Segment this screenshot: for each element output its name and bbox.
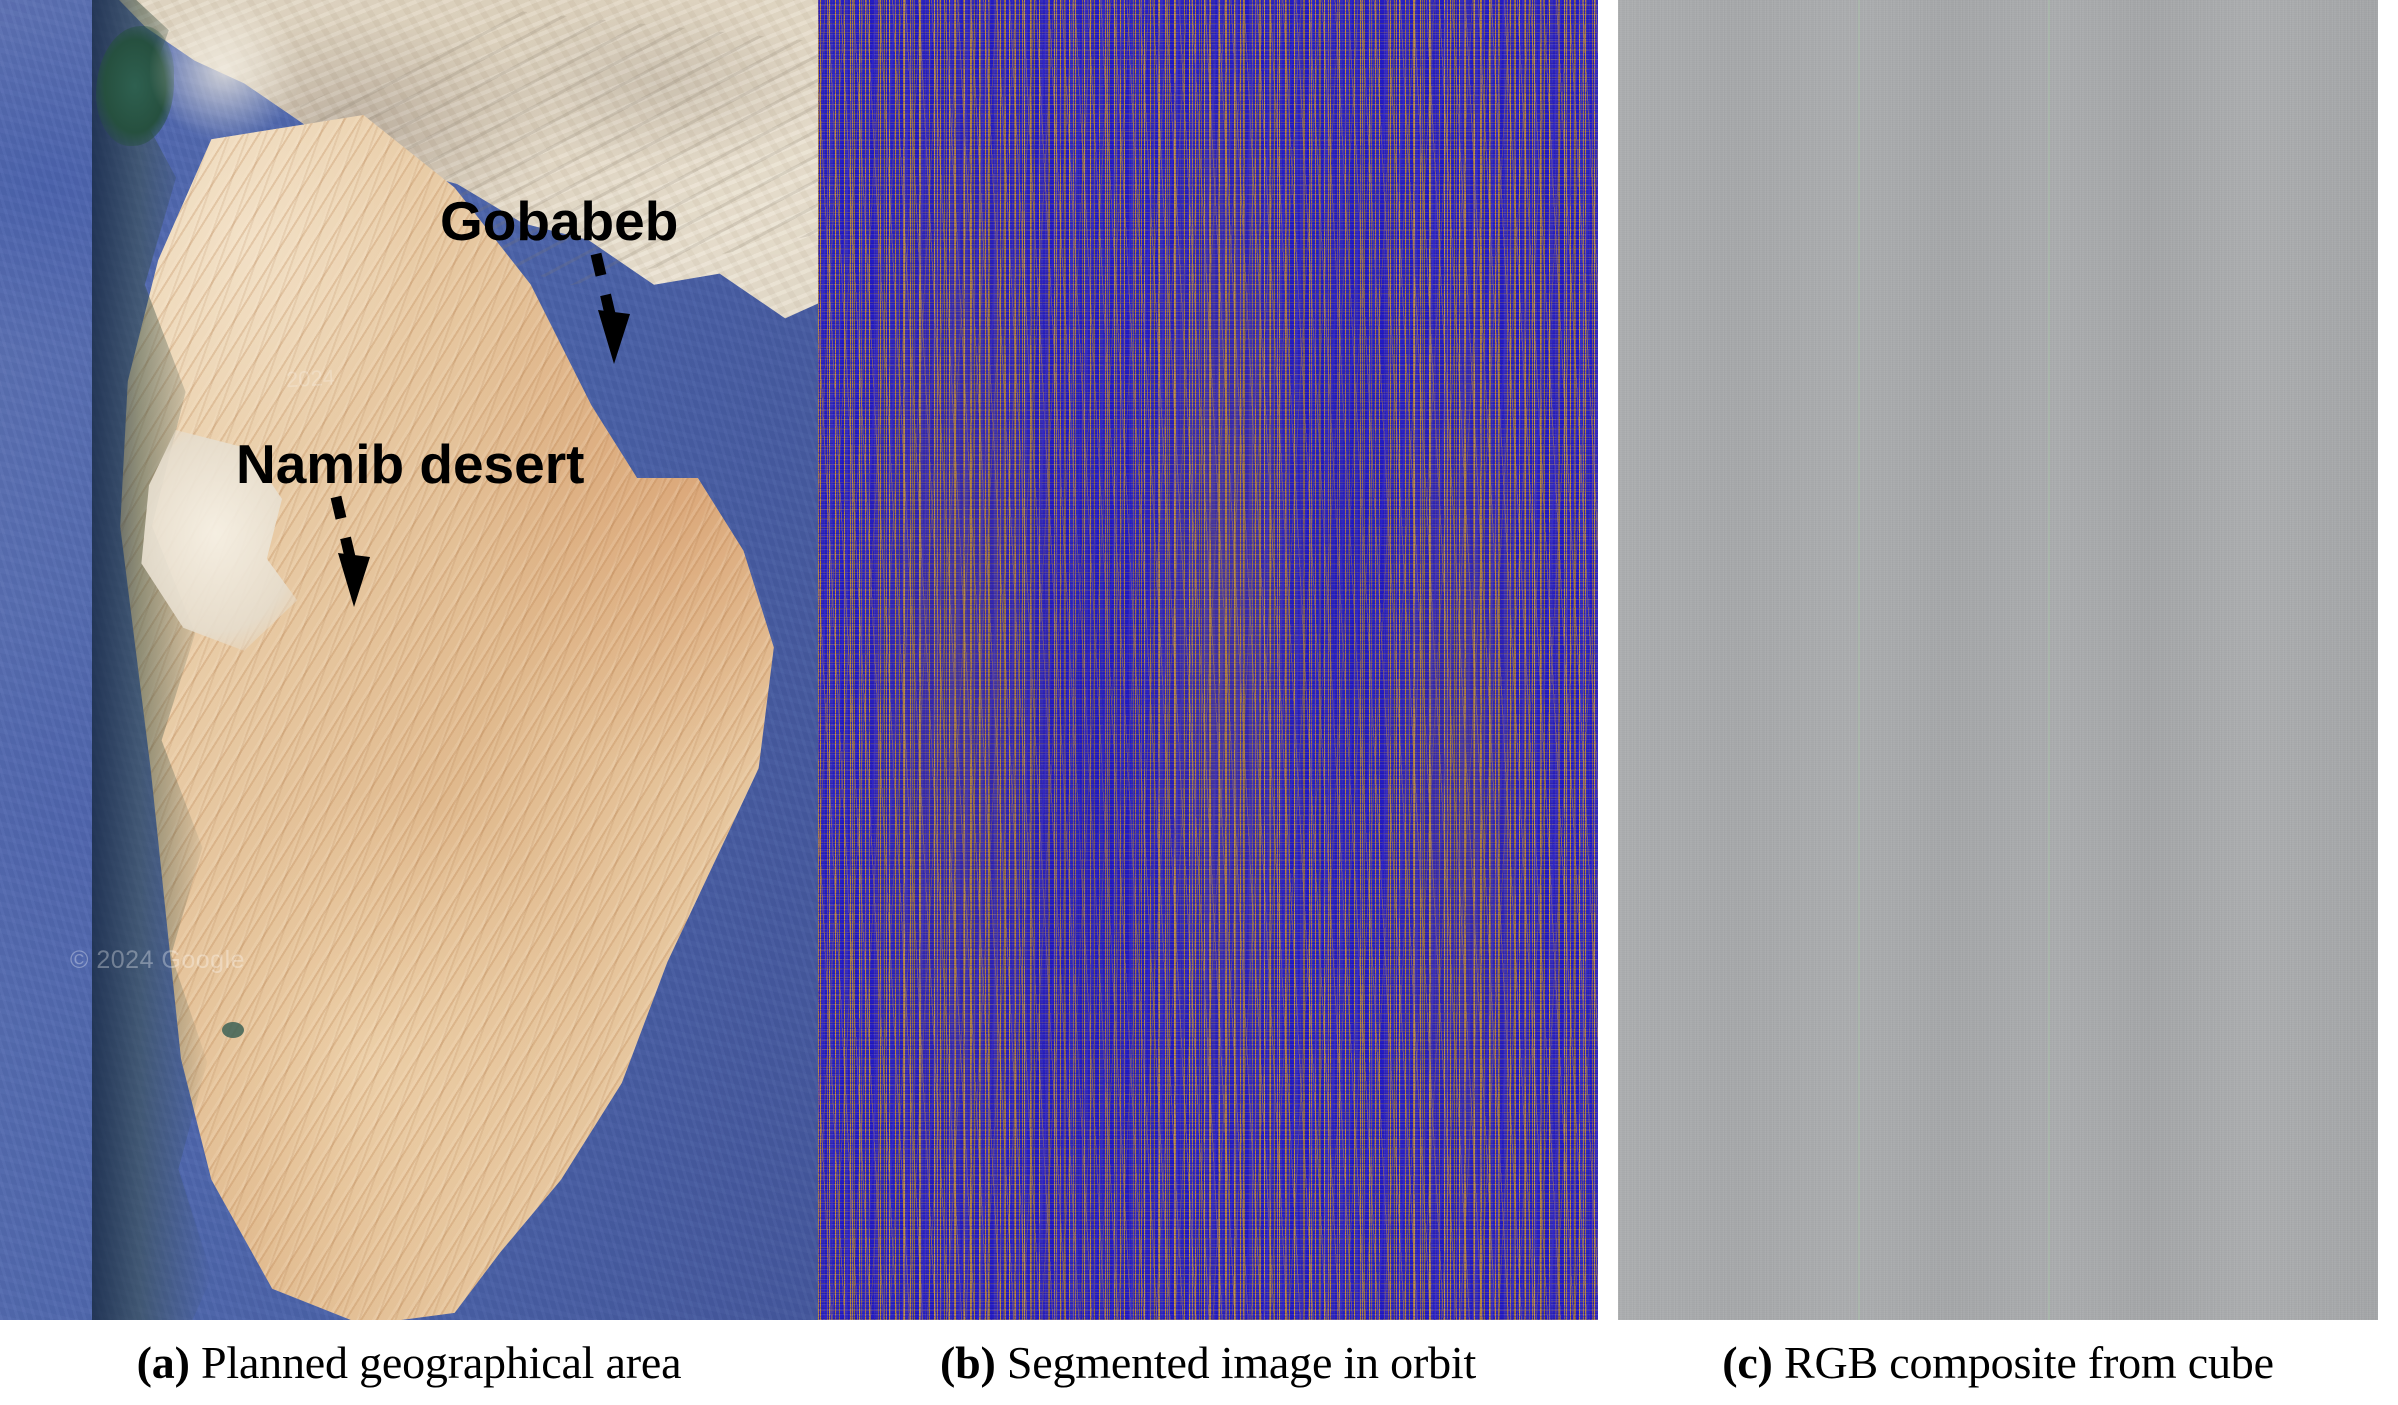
caption-b-marker: (b): [940, 1337, 996, 1388]
caption-a-marker: (a): [137, 1337, 190, 1388]
figure-container: © 2024 Google 2024 Gobabeb Namib desert: [0, 0, 2398, 1405]
caption-a-text: Planned geographical area: [190, 1337, 682, 1388]
annotation-arrow-namib-desert: [320, 495, 390, 620]
rgb-composite-sensor-noise: [1618, 0, 2378, 1320]
panel-row: © 2024 Google 2024 Gobabeb Namib desert: [0, 0, 2398, 1320]
panel-c-image: [1618, 0, 2378, 1320]
map-year-watermark: 2024: [285, 365, 335, 394]
caption-row: (a) Planned geographical area (b) Segmen…: [0, 1320, 2398, 1405]
annotation-label-namib-desert: Namib desert: [236, 437, 584, 492]
panel-a-image: © 2024 Google 2024 Gobabeb Namib desert: [0, 0, 818, 1320]
caption-c-marker: (c): [1722, 1337, 1772, 1388]
offshore-island-dot: [222, 1022, 244, 1038]
segmentation-class-clusters: [818, 0, 1598, 1320]
annotation-arrow-gobabeb: [580, 252, 650, 377]
caption-a: (a) Planned geographical area: [0, 1336, 818, 1389]
caption-c-text: RGB composite from cube: [1773, 1337, 2274, 1388]
rgb-composite-artifact-line-2: [2048, 0, 2050, 1320]
annotation-label-gobabeb: Gobabeb: [440, 194, 678, 249]
panel-b-image: [818, 0, 1598, 1320]
map-attribution-watermark: © 2024 Google: [70, 946, 245, 975]
caption-c: (c) RGB composite from cube: [1598, 1336, 2398, 1389]
salt-pan-north: [150, 0, 300, 140]
panel-a-slot: © 2024 Google 2024 Gobabeb Namib desert: [0, 0, 818, 1320]
panel-c-slot: [1598, 0, 2398, 1320]
caption-b: (b) Segmented image in orbit: [818, 1336, 1598, 1389]
panel-b-slot: [818, 0, 1598, 1320]
caption-b-text: Segmented image in orbit: [996, 1337, 1476, 1388]
rgb-composite-artifact-line-1: [1858, 0, 1860, 1320]
